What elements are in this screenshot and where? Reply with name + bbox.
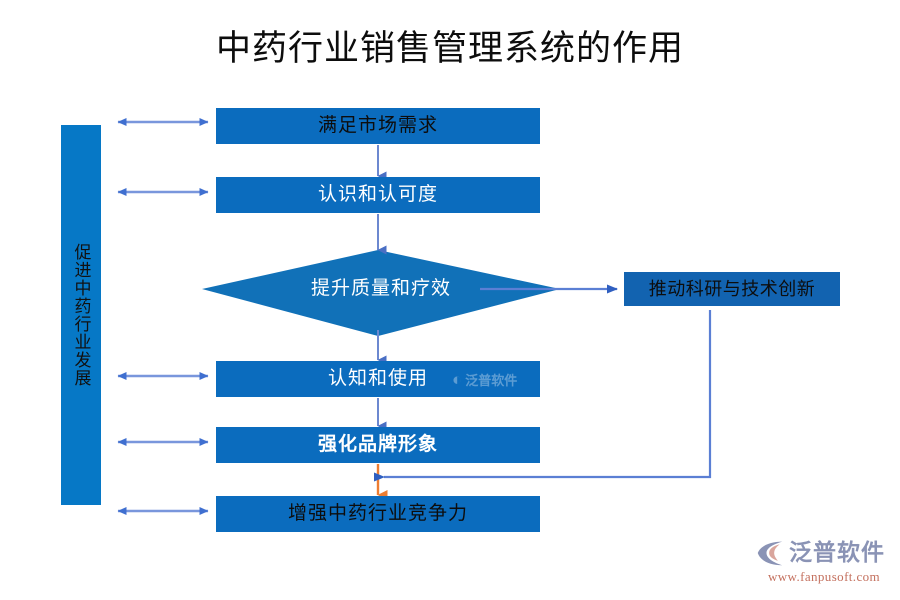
brand-logo: 泛普软件 www.fanpusoft.com [756,538,892,588]
page-title: 中药行业销售管理系统的作用 [0,26,900,72]
node-market[interactable]: 满足市场需求 [216,108,540,144]
flowchart-canvas: 中药行业销售管理系统的作用 促进中药行业发展 满足市场需求 认识和认可度 提升质… [0,0,900,600]
logo-row: 泛普软件 [756,538,892,568]
node-usage-label: 认知和使用 [328,367,428,391]
node-awareness-label: 认识和认可度 [318,183,438,207]
node-usage[interactable]: 认知和使用 [216,361,540,397]
node-innovation[interactable]: 推动科研与技术创新 [624,272,840,306]
node-compete-label: 增强中药行业竞争力 [288,502,468,526]
node-brand[interactable]: 强化品牌形象 [216,427,540,463]
logo-url: www.fanpusoft.com [756,568,892,585]
node-innovation-label: 推动科研与技术创新 [649,277,816,301]
swoosh-icon [756,539,784,567]
driver-box[interactable]: 促进中药行业发展 [61,125,101,505]
node-quality-label-wrap: 提升质量和疗效 [202,272,560,306]
node-compete[interactable]: 增强中药行业竞争力 [216,496,540,532]
node-quality-label: 提升质量和疗效 [311,277,451,301]
driver-label: 促进中药行业发展 [71,243,92,387]
node-awareness[interactable]: 认识和认可度 [216,177,540,213]
node-market-label: 满足市场需求 [318,114,438,138]
node-brand-label: 强化品牌形象 [318,433,438,457]
logo-name: 泛普软件 [789,539,885,567]
